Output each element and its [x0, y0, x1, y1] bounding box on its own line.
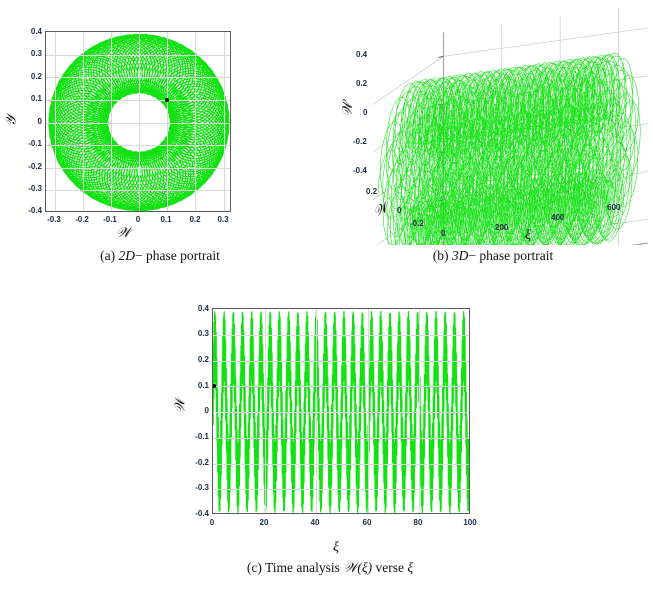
gridline-h	[213, 335, 469, 336]
ytick-a: -0.3	[20, 184, 42, 193]
ztick-b: -0.2	[353, 137, 367, 146]
gridline-h	[213, 386, 469, 387]
plot-area-time-series	[212, 308, 470, 514]
xtick-a: -0.1	[99, 215, 121, 224]
ytick-a: -0.1	[20, 139, 42, 148]
ztick-b: 0	[363, 108, 367, 117]
panel-a-2d-phase-portrait: 0.4 0.3 0.2 0.1 0 -0.1 -0.2 -0.3 -0.4 -0…	[0, 0, 330, 280]
gridline-h	[46, 190, 230, 191]
depthtick-b: 0.2	[366, 187, 377, 196]
caption-b: (b) 3D− phase portrait	[333, 248, 653, 264]
xtick-b: 0	[441, 229, 445, 238]
ytick-c: -0.3	[187, 483, 209, 492]
ytick-a: 0.2	[20, 72, 42, 81]
gridline-v	[265, 309, 266, 513]
ytick-c: 0.1	[187, 381, 209, 390]
gridline-h	[46, 100, 230, 101]
ytick-a: 0	[20, 117, 42, 126]
gridline-v	[111, 32, 112, 211]
ytick-c: 0.2	[187, 355, 209, 364]
ytick-a: 0.1	[20, 94, 42, 103]
gridline-h	[213, 489, 469, 490]
xtick-a: -0.2	[71, 215, 93, 224]
caption-b-dim: 3D	[452, 248, 469, 263]
z-axis-label-b: 𝒲′	[341, 99, 357, 117]
caption-a-dash: −	[135, 248, 143, 263]
panel-b-3d-phase-portrait: 0.4 0.2 0 -0.2 -0.4 0.2 0 -0.2 0 200 400…	[330, 0, 653, 280]
gridline-h	[46, 123, 230, 124]
gridline-v	[167, 32, 168, 211]
xtick-b: 600	[607, 203, 620, 212]
caption-c-tail: verse	[376, 560, 404, 575]
gridline-v	[368, 309, 369, 513]
caption-a: (a) 2D− phase portrait	[0, 248, 320, 264]
caption-b-prefix: (b)	[433, 248, 449, 263]
gridline-v	[139, 32, 140, 211]
gridline-v	[55, 32, 56, 211]
ytick-c: -0.1	[187, 432, 209, 441]
gridline-v	[224, 32, 225, 211]
gridline-h	[213, 464, 469, 465]
depthtick-b: -0.2	[410, 219, 424, 228]
xtick-a: 0.3	[212, 215, 234, 224]
ytick-a: -0.2	[20, 162, 42, 171]
x-axis-label-a: 𝒲	[116, 226, 131, 242]
plot-area-2d	[45, 31, 231, 212]
xtick-c: 80	[407, 518, 429, 527]
gridline-h	[46, 168, 230, 169]
ytick-a: 0.4	[20, 27, 42, 36]
xtick-b: 200	[495, 223, 508, 232]
xtick-c: 60	[356, 518, 378, 527]
caption-c-variable: ξ	[407, 560, 413, 575]
caption-c-text: Time analysis	[265, 560, 340, 575]
ztick-b: 0.4	[356, 50, 367, 59]
caption-a-prefix: (a)	[100, 248, 115, 263]
xtick-a: 0.2	[184, 215, 206, 224]
caption-c-function: 𝒲(ξ)	[343, 560, 372, 575]
depthtick-b: 0	[397, 206, 401, 215]
gridline-h	[213, 361, 469, 362]
x-axis-label-c: ξ	[333, 540, 339, 556]
ytick-a: 0.3	[20, 49, 42, 58]
ytick-c: -0.4	[187, 509, 209, 518]
y-axis-label-c: 𝒲	[173, 399, 189, 414]
gridline-v	[316, 309, 317, 513]
ytick-c: 0.3	[187, 329, 209, 338]
xtick-a: 0	[127, 215, 149, 224]
gridline-h	[213, 438, 469, 439]
xtick-c: 100	[459, 518, 481, 527]
ztick-b: 0.2	[356, 79, 367, 88]
panel-c-time-analysis: 0.4 0.3 0.2 0.1 0 -0.1 -0.2 -0.3 -0.4 0 …	[130, 288, 530, 593]
gridline-h	[46, 55, 230, 56]
xtick-c: 0	[201, 518, 223, 527]
ytick-a: -0.4	[20, 206, 42, 215]
xtick-a: 0.1	[155, 215, 177, 224]
xtick-a: -0.3	[43, 215, 65, 224]
ytick-c: 0	[187, 406, 209, 415]
caption-b-dash: −	[468, 248, 476, 263]
ztick-b: -0.4	[353, 166, 367, 175]
caption-c: (c) Time analysis 𝒲(ξ) verse ξ	[130, 560, 530, 576]
xtick-b: 400	[551, 213, 564, 222]
gridline-h	[213, 412, 469, 413]
gridline-v	[419, 309, 420, 513]
xtick-c: 40	[304, 518, 326, 527]
ytick-c: -0.2	[187, 458, 209, 467]
caption-a-dim: 2D	[119, 248, 136, 263]
ytick-c: 0.4	[187, 304, 209, 313]
caption-c-prefix: (c)	[247, 560, 262, 575]
x-axis-label-b: ξ	[525, 228, 531, 244]
y-axis-label-a: 𝒴	[4, 116, 20, 127]
gridline-h	[46, 77, 230, 78]
caption-b-text: phase portrait	[479, 248, 553, 263]
gridline-v	[195, 32, 196, 211]
caption-a-text: phase portrait	[146, 248, 220, 263]
gridline-h	[46, 145, 230, 146]
xtick-c: 20	[253, 518, 275, 527]
gridline-v	[83, 32, 84, 211]
